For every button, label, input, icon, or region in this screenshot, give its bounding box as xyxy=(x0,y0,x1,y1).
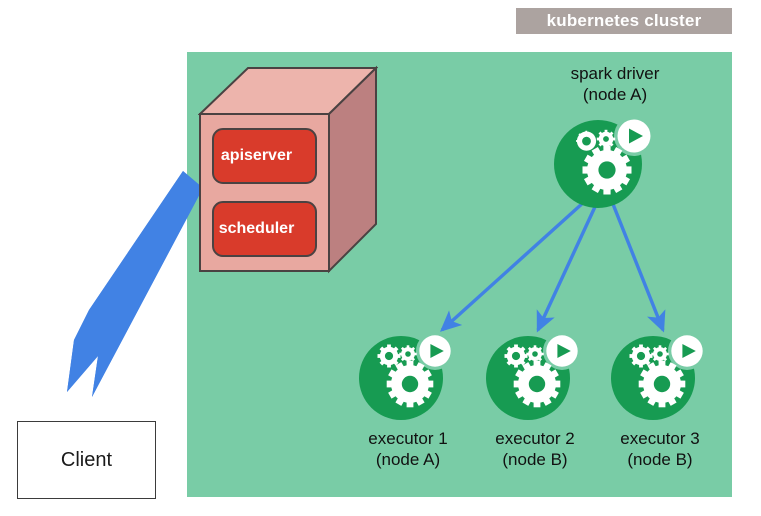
spark-driver-title: spark driver xyxy=(520,63,710,84)
gear-medium-icon xyxy=(505,345,528,368)
control-plane-cube-icon xyxy=(198,62,378,282)
client-label: Client xyxy=(61,449,112,472)
client-box: Client xyxy=(17,421,156,499)
apiserver-block xyxy=(213,129,316,183)
gear-medium-icon xyxy=(630,345,653,368)
diagram-canvas: kubernetes cluster spark-submit api xyxy=(0,0,761,516)
scheduler-block xyxy=(213,202,316,256)
gear-small-icon xyxy=(651,345,668,362)
kubernetes-cluster-badge: kubernetes cluster xyxy=(516,8,732,34)
gear-small-icon xyxy=(399,345,416,362)
gear-small-icon xyxy=(526,345,543,362)
gear-medium-icon xyxy=(378,345,401,368)
executor-3-caption: executor 3 (node B) xyxy=(583,428,737,471)
executor-1-node-icon xyxy=(356,328,460,424)
spark-driver-subtitle: (node A) xyxy=(520,84,710,105)
executor-2-node-icon xyxy=(483,328,587,424)
gear-small-icon xyxy=(597,130,615,148)
spark-submit-arrow-icon xyxy=(55,160,220,420)
spark-driver-caption: spark driver (node A) xyxy=(520,63,710,106)
spark-driver-node-icon xyxy=(550,112,660,212)
executor-3-subtitle: (node B) xyxy=(583,449,737,470)
executor-3-node-icon xyxy=(608,328,712,424)
executor-3-title: executor 3 xyxy=(583,428,737,449)
